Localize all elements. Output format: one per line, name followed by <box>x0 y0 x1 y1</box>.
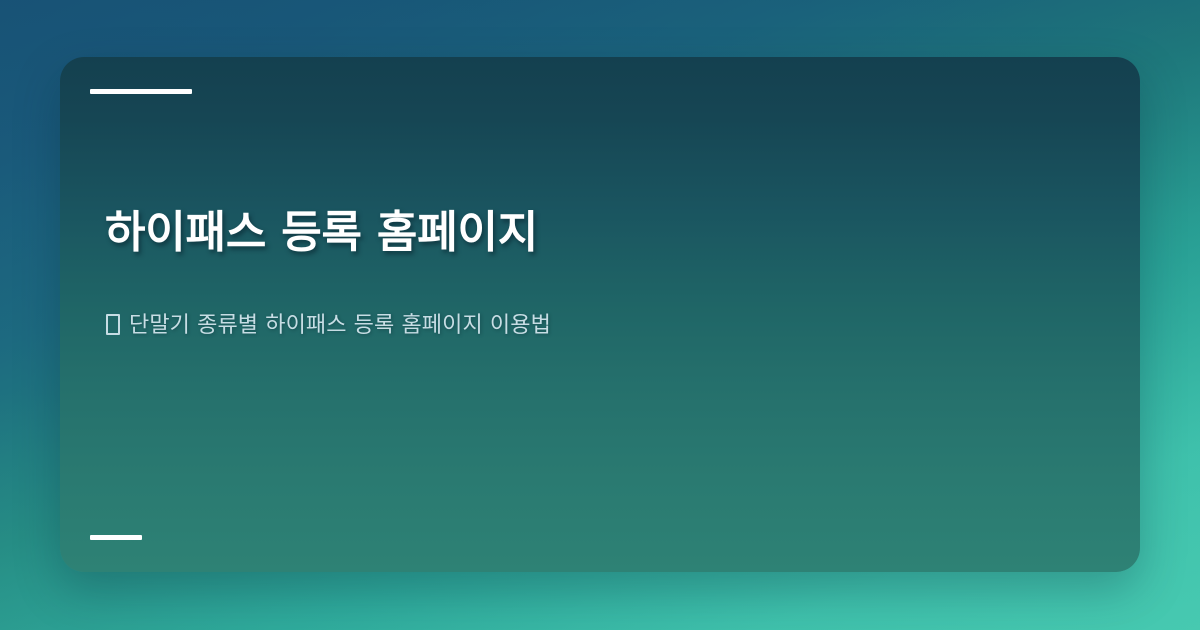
missing-glyph-icon <box>106 314 120 335</box>
page-subtitle-text: 단말기 종류별 하이패스 등록 홈페이지 이용법 <box>129 313 551 338</box>
accent-rule-bottom <box>90 535 142 540</box>
page-title: 하이패스 등록 홈페이지 <box>105 205 1095 261</box>
page-subtitle: 단말기 종류별 하이패스 등록 홈페이지 이용법 <box>106 309 1096 342</box>
content-card: 하이패스 등록 홈페이지 단말기 종류별 하이패스 등록 홈페이지 이용법 <box>60 57 1140 572</box>
accent-rule-top <box>90 89 192 94</box>
thumbnail-canvas: 하이패스 등록 홈페이지 단말기 종류별 하이패스 등록 홈페이지 이용법 <box>0 0 1200 630</box>
